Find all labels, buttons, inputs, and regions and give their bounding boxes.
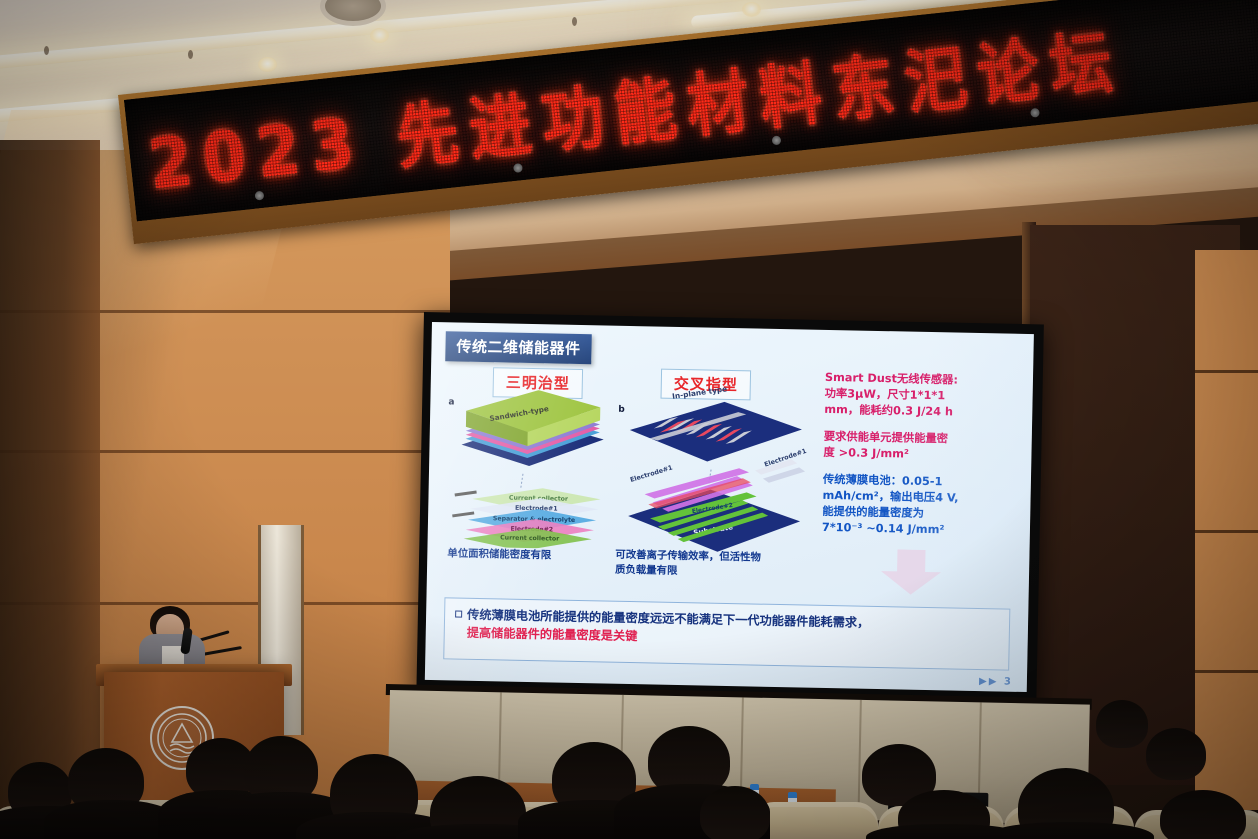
conference-hall-photo: 2023 先进功能材料东汜论坛 传统二维储能器件 三明治型 交叉指型 a	[0, 0, 1258, 839]
page-bullet-icon: ▶▶	[979, 676, 999, 687]
ceiling-spotlight	[742, 2, 761, 17]
auditorium-seat	[752, 802, 878, 839]
presentation-slide: 传统二维储能器件 三明治型 交叉指型 a Sandwich-type	[425, 322, 1034, 692]
wall-panel-seam	[1195, 670, 1258, 673]
banner-screw	[1030, 108, 1040, 118]
ceiling-fixture-dot	[188, 50, 193, 59]
left-dark-wall-edge	[0, 140, 100, 839]
conclusion-box: 传统薄膜电池所能提供的能量密度远远不能满足下一代功能器件能耗需求， 提高储能器件…	[443, 597, 1010, 670]
panel-letter-a: a	[448, 397, 454, 407]
text-block-thin-film-battery: 传统薄膜电池：0.05-1 mAh/cm²，输出电压4 V, 能提供的能量密度为…	[822, 472, 1028, 540]
banner-screw	[254, 191, 264, 201]
audience-head	[700, 786, 770, 839]
caption-in-plane: 可改善离子传输效率，但活性物质负载量有限	[615, 548, 766, 580]
slide-text-column: Smart Dust无线传感器: 功率3μW，尺寸1*1*1 mm，能耗约0.3…	[822, 370, 1031, 551]
slide-page-number: ▶▶ 3	[979, 676, 1013, 688]
ceiling-fixture-dot	[44, 46, 49, 55]
page-number-text: 3	[1004, 677, 1013, 688]
text-line: 度 >0.3 J/mm²	[823, 445, 1028, 465]
text-block-smart-dust: Smart Dust无线传感器: 功率3μW，尺寸1*1*1 mm，能耗约0.3…	[824, 370, 1030, 422]
bullet-square-icon	[455, 611, 462, 618]
ceiling-fixture-dot	[572, 17, 577, 26]
diagram-in-plane-type: b In-plane type	[613, 384, 812, 560]
caption-sandwich: 单位面积储能密度有限	[447, 546, 597, 564]
text-line: 7*10⁻³ ~0.14 J/mm²	[822, 520, 1027, 540]
right-wood-wall	[1195, 250, 1258, 810]
audience-head	[1146, 728, 1206, 780]
ceiling-spotlight	[370, 28, 389, 43]
text-block-requirement: 要求供能单元提供能量密 度 >0.3 J/mm²	[823, 429, 1029, 465]
panel-letter-b: b	[618, 405, 625, 415]
wall-panel-seam	[1195, 370, 1258, 373]
layer-label: Electrode#1	[629, 464, 673, 484]
diagram-sandwich-type: a Sandwich-type Cu	[441, 388, 616, 553]
layer-label: Current collector	[500, 534, 560, 542]
wall-panel-seam	[1195, 530, 1258, 533]
diagram-label: In-plane type	[672, 384, 728, 400]
down-arrow-icon	[879, 549, 944, 596]
text-line: mm，能耗约0.3 J/24 h	[824, 402, 1029, 422]
ceiling-spotlight	[258, 57, 277, 72]
slide-title: 传统二维储能器件	[445, 331, 592, 364]
banner-screw	[513, 163, 523, 173]
audience-head	[1096, 700, 1148, 748]
audience-head	[1160, 790, 1246, 839]
banner-screw	[772, 135, 782, 145]
